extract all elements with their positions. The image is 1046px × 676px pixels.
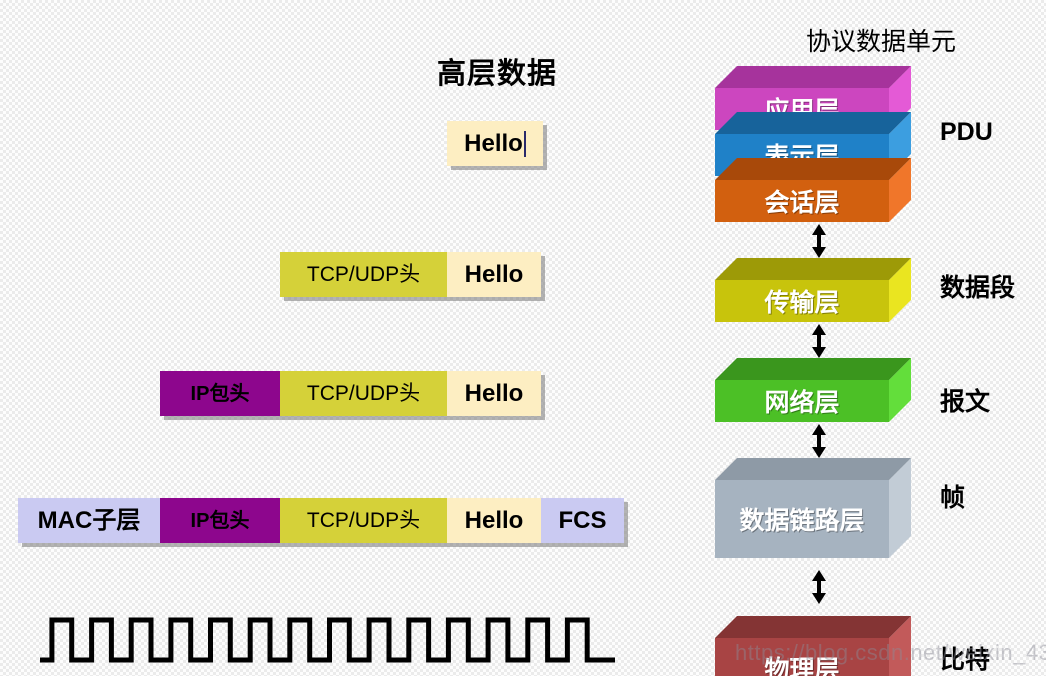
pdu-name-pdu: PDU (940, 118, 993, 147)
block-top-face (715, 158, 911, 180)
pdu-row-packet: IP包头TCP/UDP头Hello (160, 371, 541, 416)
block-top-face (715, 112, 911, 134)
block-top-face (715, 358, 911, 380)
pdu-cell-data: Hello (447, 252, 541, 297)
pdu-cell-label: Hello (465, 509, 524, 533)
arrow-network-datalink-icon (810, 424, 828, 458)
pdu-cell-label: TCP/UDP头 (307, 264, 420, 285)
block-front-face: 网络层 (715, 380, 889, 422)
osi-layer-label: 物理层 (764, 650, 839, 676)
text-cursor (524, 131, 526, 157)
osi-block-session[interactable]: 会话层 (715, 158, 911, 222)
pdu-cell-label: FCS (559, 509, 607, 533)
block-front-face: 传输层 (715, 280, 889, 322)
osi-block-data-link[interactable]: 数据链路层 (715, 458, 911, 558)
pdu-cell-label: TCP/UDP头 (307, 510, 420, 531)
pdu-name-frame: 帧 (940, 478, 965, 514)
pdu-cell-tcp: TCP/UDP头 (280, 498, 447, 543)
osi-block-transport[interactable]: 传输层 (715, 258, 911, 322)
pdu-cell-ip: IP包头 (160, 371, 280, 416)
arrow-transport-network-icon (810, 324, 828, 358)
protocol-data-unit-title: 协议数据单元 (806, 22, 956, 58)
bit-waveform (40, 612, 615, 668)
pdu-cell-data: Hello (447, 498, 541, 543)
pdu-name-segment: 数据段 (940, 268, 1015, 304)
osi-block-physical[interactable]: 物理层 (715, 616, 911, 676)
pdu-cell-label: Hello (465, 382, 524, 406)
block-top-face (715, 66, 911, 88)
pdu-cell-label: Hello (465, 263, 524, 287)
osi-block-network[interactable]: 网络层 (715, 358, 911, 422)
pdu-cell-fcs: FCS (541, 498, 624, 543)
block-front-face: 物理层 (715, 638, 889, 676)
block-top-face (715, 616, 911, 638)
pdu-cell-label: IP包头 (191, 511, 250, 531)
block-top-face (715, 458, 911, 480)
pdu-cell-mac: MAC子层 (18, 498, 160, 543)
pdu-cell-label: TCP/UDP头 (307, 383, 420, 404)
pdu-name-bit: 比特 (940, 640, 990, 676)
pdu-row-frame: MAC子层IP包头TCP/UDP头HelloFCS (18, 498, 624, 543)
osi-layer-label: 传输层 (764, 283, 839, 319)
osi-layer-label: 网络层 (764, 383, 839, 419)
pdu-cell-tcp: TCP/UDP头 (280, 252, 447, 297)
pdu-cell-tcp: TCP/UDP头 (280, 371, 447, 416)
pdu-name-packet: 报文 (940, 382, 990, 418)
upper-layer-data-title: 高层数据 (437, 50, 557, 92)
block-front-face: 数据链路层 (715, 480, 889, 558)
arrow-session-transport-icon (810, 224, 828, 258)
arrow-datalink-physical-icon (810, 570, 828, 604)
pdu-row-application-data: Hello (447, 121, 543, 166)
block-top-face (715, 258, 911, 280)
pdu-cell-label: Hello (464, 132, 523, 156)
block-front-face: 会话层 (715, 180, 889, 222)
pdu-row-segment: TCP/UDP头Hello (280, 252, 541, 297)
pdu-cell-label: IP包头 (191, 384, 250, 404)
pdu-cell-data: Hello (447, 121, 543, 166)
pdu-cell-label: MAC子层 (38, 509, 141, 533)
osi-layer-label: 会话层 (764, 183, 839, 219)
osi-layer-label: 数据链路层 (739, 501, 864, 537)
pdu-cell-ip: IP包头 (160, 498, 280, 543)
pdu-cell-data: Hello (447, 371, 541, 416)
